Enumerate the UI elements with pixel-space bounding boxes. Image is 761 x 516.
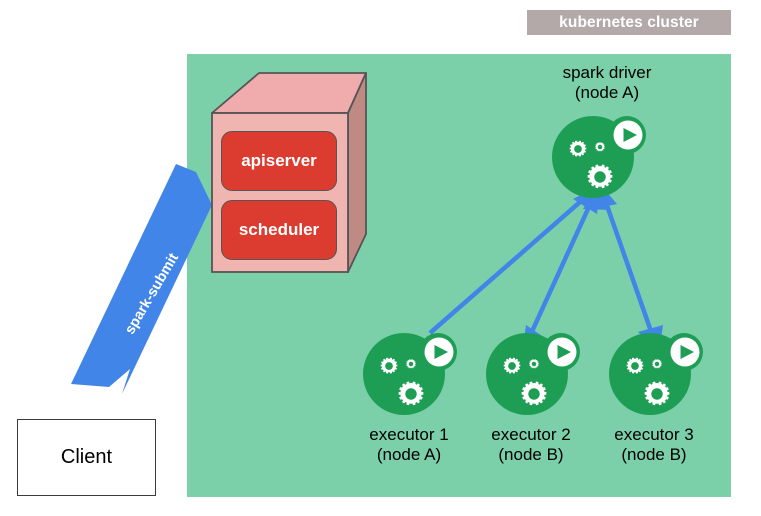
client-label: Client — [61, 446, 112, 469]
client-box: Client — [17, 419, 156, 496]
play-icon — [671, 338, 700, 367]
scheduler-component: scheduler — [221, 200, 337, 260]
executor-1-subtitle: (node A) — [345, 445, 473, 465]
spark-driver-title: spark driver — [527, 63, 687, 83]
play-icon — [548, 338, 577, 367]
apiserver-component: apiserver — [221, 131, 337, 191]
executor-2-subtitle: (node B) — [467, 445, 595, 465]
executor-2-caption: executor 2 (node B) — [467, 425, 595, 465]
executor-2-title: executor 2 — [467, 425, 595, 445]
executor-1-caption: executor 1 (node A) — [345, 425, 473, 465]
spark-driver-subtitle: (node A) — [527, 83, 687, 103]
executor-1-title: executor 1 — [345, 425, 473, 445]
kubernetes-cluster-badge: kubernetes cluster — [527, 10, 731, 35]
executor-3-title: executor 3 — [590, 425, 718, 445]
diagram-canvas: kubernetes cluster apiserver scheduler s… — [0, 0, 761, 516]
spark-driver-caption: spark driver (node A) — [527, 63, 687, 103]
play-icon — [614, 121, 643, 150]
executor-3-subtitle: (node B) — [590, 445, 718, 465]
executor-3-caption: executor 3 (node B) — [590, 425, 718, 465]
play-icon — [425, 338, 454, 367]
